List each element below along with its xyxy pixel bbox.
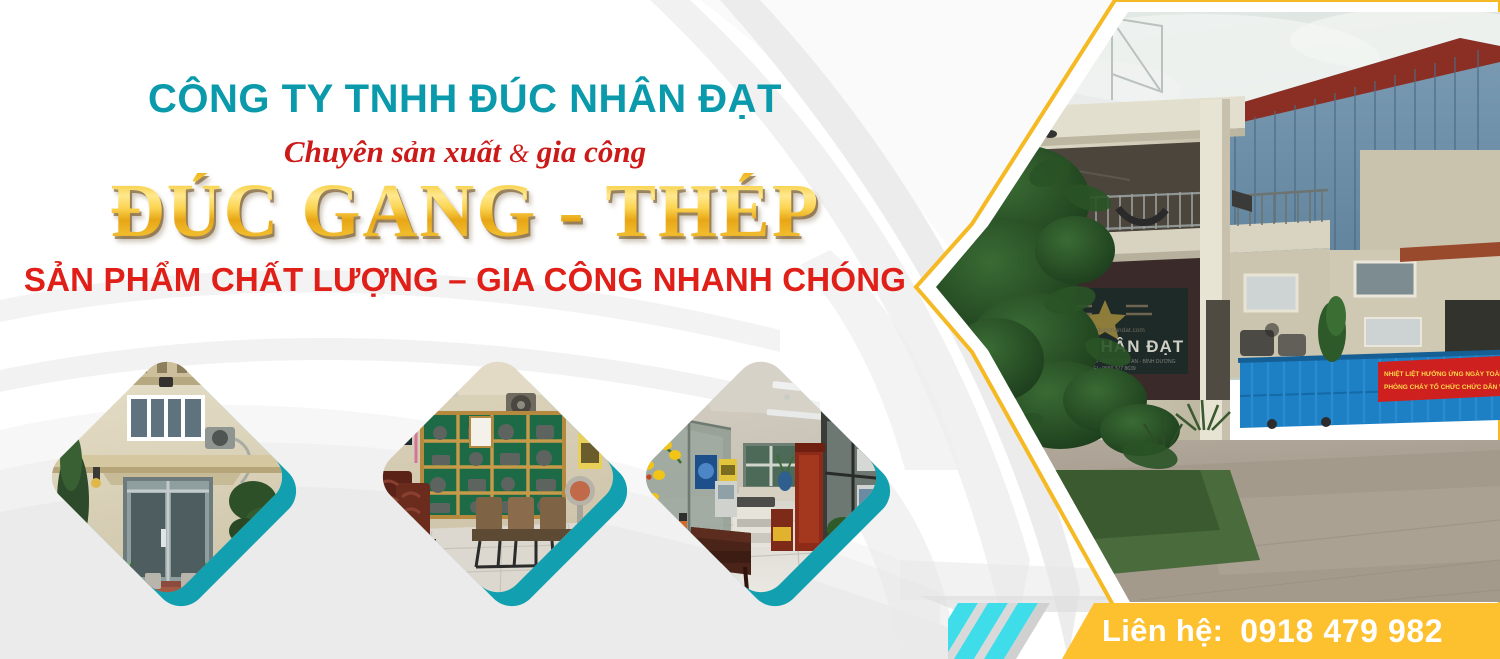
contact-phone-number[interactable]: 0918 479 982 [1240,613,1443,650]
tagline-post: gia công [537,134,646,169]
hero-photo-frame: www.ducnhandat.com ĐÚC NHÂN ĐẠT LÔ 60 ĐƯ… [900,0,1500,614]
thumbnail-gallery [0,372,940,652]
tagline: Chuyên sản xuất & gia công [10,135,920,169]
contact-label: Liên hệ: [1102,613,1223,649]
office-building-art [41,351,293,603]
office-building-thumb[interactable] [41,351,293,603]
svg-text:NHIỆT LIỆT HƯỞNG ỨNG NGÀY TOÀN: NHIỆT LIỆT HƯỞNG ỨNG NGÀY TOÀN [1384,369,1500,378]
main-headline: ĐÚC GANG - THÉP [10,173,920,249]
lobby-thumb[interactable] [635,351,887,603]
showroom-art [372,351,624,603]
headline-text-block: CÔNG TY TNHH ĐÚC NHÂN ĐẠT Chuyên sản xuấ… [0,78,920,299]
tagline-pre: Chuyên sản xuất [284,134,501,169]
diagonal-stripes-decoration [948,603,1078,659]
svg-text:PHÒNG CHÁY TỔ CHỨC CHỨC DÂN VÀ: PHÒNG CHÁY TỔ CHỨC CHỨC DÂN VÀ THỰC HIỆN… [1384,382,1500,391]
tagline-ampersand: & [509,139,529,168]
company-name: CÔNG TY TNHH ĐÚC NHÂN ĐẠT [10,78,920,121]
factory-gate-photo: www.ducnhandat.com ĐÚC NHÂN ĐẠT LÔ 60 ĐƯ… [900,0,1500,614]
value-proposition: SẢN PHẨM CHẤT LƯỢNG – GIA CÔNG NHANH CHÓ… [10,261,920,299]
contact-bar[interactable]: Liên hệ: 0918 479 982 [1062,603,1500,659]
lobby-art [635,351,887,603]
promo-banner: www.ducnhandat.com ĐÚC NHÂN ĐẠT LÔ 60 ĐƯ… [0,0,1500,659]
showroom-thumb[interactable] [372,351,624,603]
